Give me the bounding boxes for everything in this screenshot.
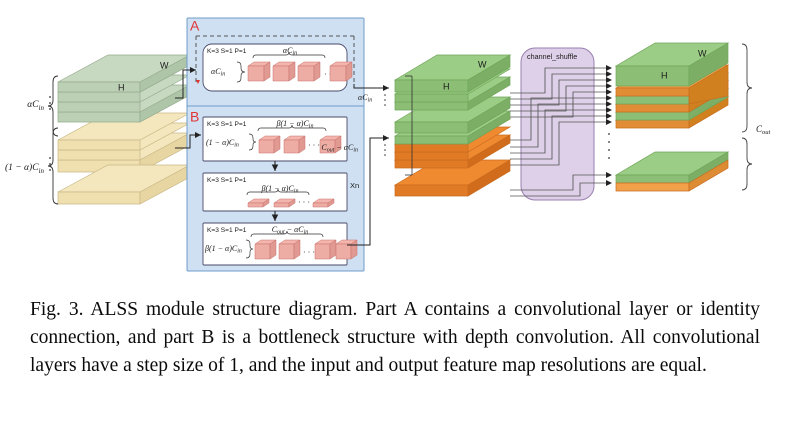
mid-h-label: H <box>443 81 450 91</box>
depthwise-conv-block-b2: K=3 S=1 P=1 β(1 − α)Cin · · · <box>203 173 347 211</box>
input-w-label: W <box>160 60 169 70</box>
input-vertical-ellipsis <box>49 96 51 171</box>
conv-b2-ellipsis: · · · <box>298 198 310 207</box>
part-b-label: B <box>190 109 199 125</box>
figure-caption: Fig. 3. ALSS module structure diagram. P… <box>30 296 760 380</box>
input-feature-map: W H αCin (1 − α)Cin <box>5 55 190 204</box>
input-h-label: H <box>118 82 125 92</box>
conv-block-a: K=3 S=1 P=1 αCin αCin <box>203 44 352 91</box>
conv-b2-kernel-spec: K=3 S=1 P=1 <box>207 177 247 184</box>
conv-block-b3: K=3 S=1 P=1 Cout − αCin β(1 − α)Cin <box>203 223 357 265</box>
output-feature-map: W H Cout <box>616 43 771 191</box>
input-oneminusalpha-group-label: (1 − α)Cin <box>5 162 45 174</box>
output-h-label: H <box>661 70 668 80</box>
mid-w-label: W <box>478 59 487 69</box>
conv-a-kernel-stacks: · · · <box>248 62 352 81</box>
channel-shuffle-label: channel_shuffle <box>527 52 577 61</box>
edge-ellipsis <box>384 94 386 156</box>
output-w-label: W <box>698 48 707 58</box>
part-a-label: A <box>190 18 200 34</box>
alss-module-diagram: W H αCin (1 − α)Cin A B <box>0 0 787 288</box>
concatenated-feature-map: W H <box>395 55 510 196</box>
caption-text: ALSS module structure diagram. Part A co… <box>30 299 760 376</box>
caption-label: Fig. 3. <box>30 299 83 320</box>
part-b-repeat-label: Xn <box>350 181 359 190</box>
output-cout-label: Cout <box>756 124 771 136</box>
conv-b2-kernel-stacks: · · · <box>248 198 334 207</box>
conv-a-kernel-spec: K=3 S=1 P=1 <box>207 48 247 55</box>
conv-b3-kernel-spec: K=3 S=1 P=1 <box>207 227 247 234</box>
channel-shuffle-block <box>521 48 594 200</box>
conv-block-b1: K=3 S=1 P=1 β(1 − α)Cin (1 − α)Cin <box>203 117 347 161</box>
conv-b1-ellipsis: · · · <box>308 141 320 150</box>
figure-page: W H αCin (1 − α)Cin A B <box>0 0 787 430</box>
output-wire-ellipsis <box>608 133 610 159</box>
input-alpha-group-label: αCin <box>27 100 44 111</box>
channel-shuffle-arrowheads <box>606 65 612 186</box>
conv-b3-ellipsis: · · · <box>303 248 315 257</box>
conv-b1-kernel-spec: K=3 S=1 P=1 <box>207 121 247 128</box>
